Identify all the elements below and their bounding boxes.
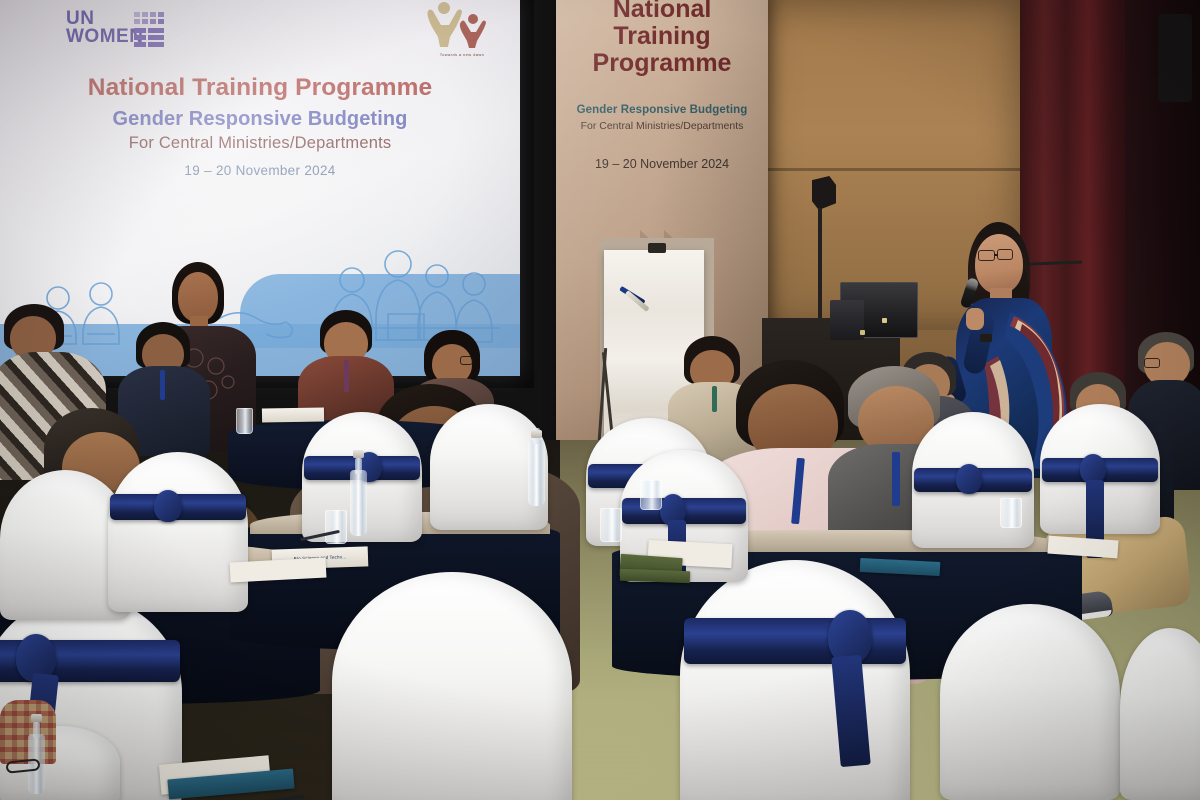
chair-front-right bbox=[680, 560, 910, 800]
av-case-led-2 bbox=[860, 330, 865, 335]
chair-far-right bbox=[1040, 404, 1160, 534]
two-figures-icon bbox=[416, 0, 508, 49]
chair-bottom-right bbox=[940, 604, 1120, 800]
chair-front-center bbox=[332, 572, 572, 800]
speaker-wristwatch bbox=[980, 334, 992, 342]
water-bottle-2 bbox=[528, 440, 545, 506]
glasses-icon bbox=[1144, 358, 1160, 368]
lanyard bbox=[892, 452, 900, 506]
stage-light-pole bbox=[818, 208, 822, 320]
water-bottle-1-neck bbox=[355, 458, 362, 474]
av-flight-case-side bbox=[830, 300, 864, 340]
chair-cover bbox=[680, 560, 910, 800]
partner-logo-caption: Towards a new dawn bbox=[416, 52, 508, 57]
water-bottle-3-cap bbox=[31, 714, 42, 722]
slide-subtitle: Gender Responsive Budgeting bbox=[0, 108, 520, 131]
chair-cover bbox=[1120, 628, 1200, 800]
water-bottle-2-cap bbox=[531, 430, 542, 438]
glasses-icon bbox=[460, 356, 473, 365]
un-women-logo: UN WOMEN bbox=[66, 10, 174, 56]
av-case-led bbox=[882, 318, 887, 323]
slide-dates: 19 – 20 November 2024 bbox=[0, 163, 520, 178]
chair-sash-knot bbox=[956, 464, 982, 494]
slide-audience-line: For Central Ministries/Departments bbox=[0, 134, 520, 153]
conference-photo-scene: UN WOMEN bbox=[0, 0, 1200, 800]
drinking-glass-2 bbox=[600, 508, 622, 542]
lanyard bbox=[160, 370, 165, 400]
flipchart-clip bbox=[648, 243, 666, 253]
chair-bottom-far-right bbox=[1120, 628, 1200, 800]
wall-seam bbox=[760, 168, 1020, 171]
water-bottle-1-cap bbox=[353, 450, 364, 458]
drinking-glass-5 bbox=[1000, 498, 1022, 528]
chair-sash bbox=[684, 618, 906, 664]
delegate-name-card-2 bbox=[262, 407, 324, 422]
water-bottle-3-neck bbox=[33, 722, 40, 738]
wall-speaker-box bbox=[1158, 14, 1192, 102]
drinking-glass-3 bbox=[640, 480, 662, 510]
partner-logo: Towards a new dawn bbox=[416, 0, 508, 57]
chair-sash-knot bbox=[154, 490, 182, 522]
water-bottle-1 bbox=[350, 470, 367, 536]
slide-title: National Training Programme bbox=[0, 74, 520, 102]
drinking-glass-1 bbox=[325, 510, 347, 544]
drinking-glass-4 bbox=[236, 408, 253, 434]
speaker-hand-mic bbox=[966, 308, 984, 330]
chair-cover bbox=[108, 452, 248, 612]
chair-mid-left bbox=[108, 452, 248, 612]
un-women-logo-mark bbox=[134, 12, 172, 54]
chair-cover bbox=[940, 604, 1120, 800]
chair-cover bbox=[332, 572, 572, 800]
notebook-2 bbox=[620, 569, 690, 583]
